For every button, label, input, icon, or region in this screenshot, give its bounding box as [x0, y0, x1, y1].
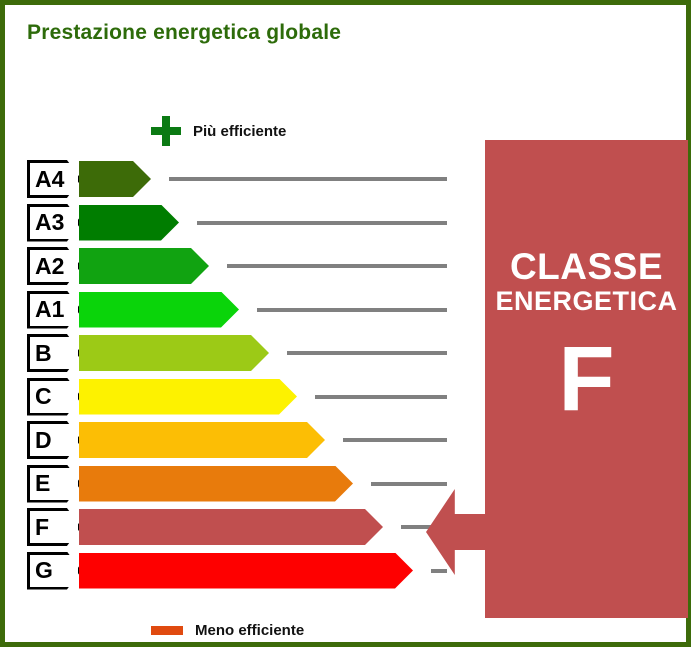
class-badge-label: A1: [35, 298, 64, 321]
class-badge-inner: E: [30, 468, 78, 500]
leader-line: [197, 221, 447, 225]
class-badge-label: E: [35, 472, 50, 495]
result-class-letter: F: [558, 333, 614, 425]
class-bar-f: [79, 509, 383, 545]
class-badge-label: F: [35, 516, 49, 539]
class-badge-inner: A4: [30, 163, 78, 195]
class-badge-label: G: [35, 559, 53, 582]
class-badge-b: B: [27, 334, 81, 372]
leader-line: [257, 308, 447, 312]
leader-line: [343, 438, 447, 442]
class-badge-a1: A1: [27, 291, 81, 329]
class-badge-label: B: [35, 342, 52, 365]
result-panel-title-line-1: CLASSE: [510, 248, 663, 285]
class-badge-label: C: [35, 385, 52, 408]
energy-certificate: Prestazione energetica globale Più effic…: [0, 0, 691, 647]
class-badge-a2: A2: [27, 247, 81, 285]
class-badge-a3: A3: [27, 204, 81, 242]
class-bar-b: [79, 335, 269, 371]
class-badge-e: E: [27, 465, 81, 503]
class-badge-inner: D: [30, 424, 78, 456]
class-bar-a4: [79, 161, 151, 197]
class-badge-label: A2: [35, 255, 64, 278]
leader-line: [431, 569, 447, 573]
class-bar-d: [79, 422, 325, 458]
leader-line: [371, 482, 447, 486]
class-bar-c: [79, 379, 297, 415]
class-badge-inner: A3: [30, 207, 78, 239]
class-badge-f: F: [27, 508, 81, 546]
class-badge-inner: A2: [30, 250, 78, 282]
energy-class-result-panel: CLASSE ENERGETICA F: [485, 140, 688, 618]
class-badge-label: A3: [35, 211, 64, 234]
minus-icon: [151, 626, 183, 635]
class-badge-inner: A1: [30, 294, 78, 326]
result-panel-content: CLASSE ENERGETICA F: [485, 140, 688, 618]
legend-least-efficient: Meno efficiente: [151, 618, 304, 642]
result-panel-title-line-2: ENERGETICA: [495, 285, 677, 319]
class-badge-g: G: [27, 552, 81, 590]
class-badge-c: C: [27, 378, 81, 416]
class-badge-a4: A4: [27, 160, 81, 198]
class-badge-label: A4: [35, 168, 64, 191]
class-bar-a3: [79, 205, 179, 241]
class-bar-g: [79, 553, 413, 589]
class-badge-inner: G: [30, 555, 78, 587]
class-bar-e: [79, 466, 353, 502]
leader-line: [315, 395, 447, 399]
leader-line: [227, 264, 447, 268]
class-bar-a1: [79, 292, 239, 328]
class-badge-inner: B: [30, 337, 78, 369]
leader-line: [169, 177, 447, 181]
leader-line: [287, 351, 447, 355]
legend-least-efficient-label: Meno efficiente: [195, 622, 304, 639]
class-badge-inner: C: [30, 381, 78, 413]
class-bar-a2: [79, 248, 209, 284]
class-badge-d: D: [27, 421, 81, 459]
class-badge-label: D: [35, 429, 52, 452]
class-badge-inner: F: [30, 511, 78, 543]
